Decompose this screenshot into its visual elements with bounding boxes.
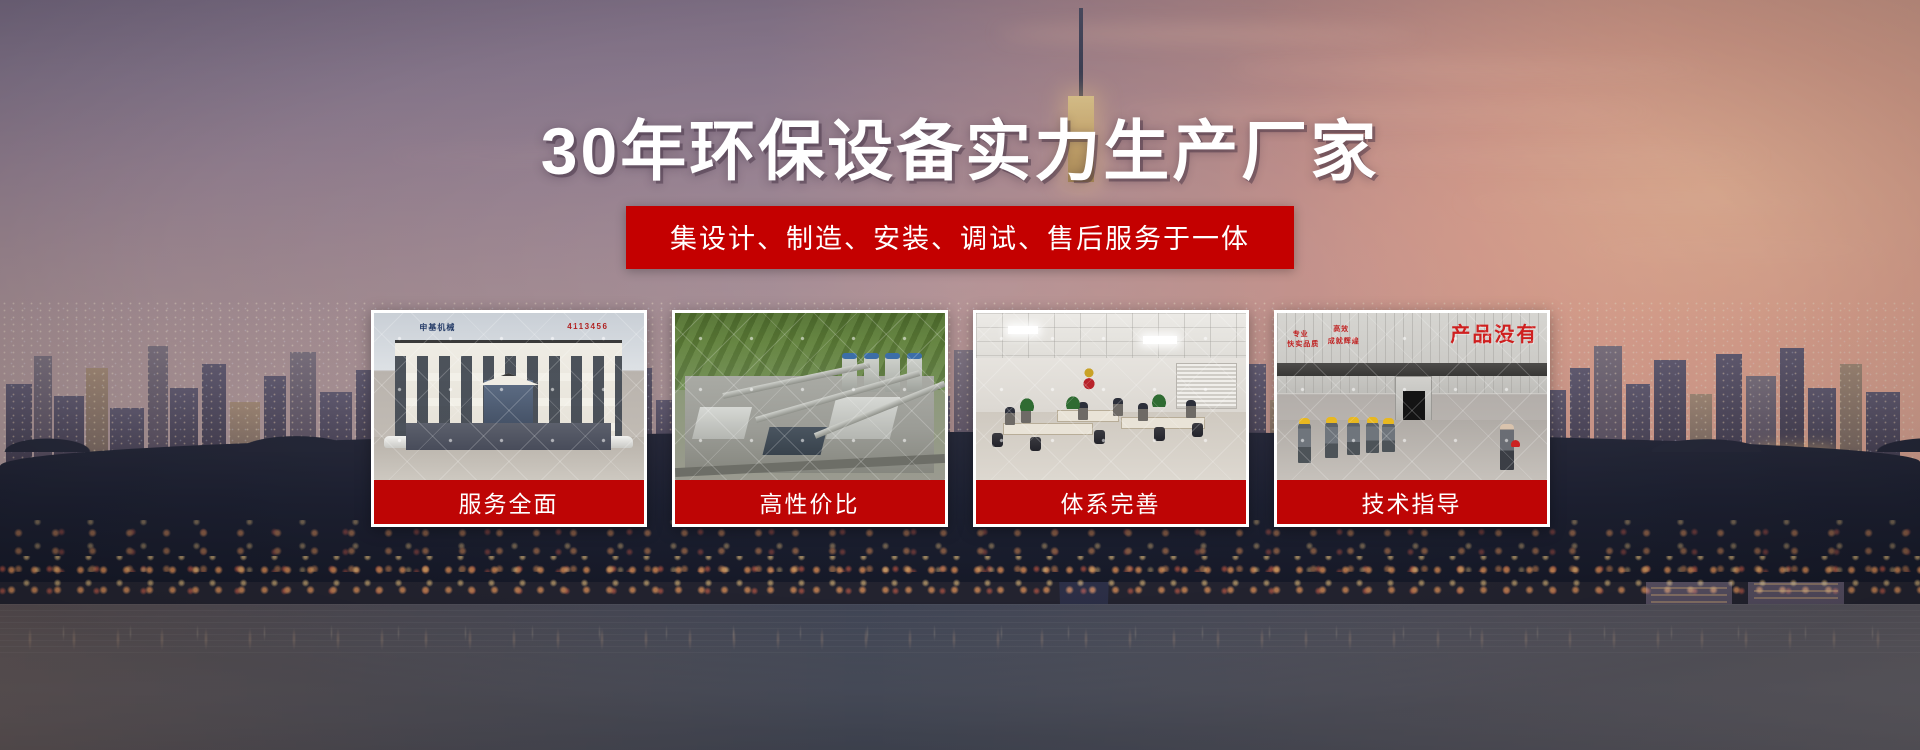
card-caption-guidance: 技术指导	[1277, 480, 1547, 524]
factory-wall-big-sign: 产品没有	[1450, 318, 1538, 347]
banner-content: 30年环保设备实力生产厂家 集设计、制造、安装、调试、售后服务于一体 申基机械 …	[0, 0, 1920, 750]
banner-headline: 30年环保设备实力生产厂家	[541, 118, 1379, 184]
feature-card-system[interactable]: 体系完善	[973, 310, 1249, 527]
card-caption-service: 服务全面	[374, 480, 644, 524]
card-photo-office-interior	[976, 313, 1246, 480]
factory-door	[1395, 376, 1432, 421]
hero-banner: 30年环保设备实力生产厂家 集设计、制造、安装、调试、售后服务于一体 申基机械 …	[0, 0, 1920, 750]
card-photo-workers-training: 产品没有 专业 快实品质 高效 成就辉煌	[1277, 313, 1547, 480]
supervisor-figure	[1500, 424, 1514, 470]
factory-slogan-3: 高效	[1333, 326, 1349, 335]
card-caption-value: 高性价比	[675, 480, 945, 524]
feature-card-guidance[interactable]: 产品没有 专业 快实品质 高效 成就辉煌 技	[1274, 310, 1550, 527]
factory-slogan-4: 成就辉煌	[1328, 338, 1360, 347]
card-caption-system: 体系完善	[976, 480, 1246, 524]
feature-card-list: 申基机械 4113456 服务全面	[371, 310, 1550, 527]
factory-slogan-2: 快实品质	[1287, 341, 1319, 350]
feature-card-service[interactable]: 申基机械 4113456 服务全面	[371, 310, 647, 527]
building-company-sign: 申基机械	[419, 322, 455, 333]
window-blinds	[1176, 363, 1237, 408]
factory-slogan-1: 专业	[1293, 331, 1309, 340]
feature-card-value[interactable]: 高性价比	[672, 310, 948, 527]
staff-row	[406, 417, 611, 450]
card-photo-factory-aerial	[675, 313, 945, 480]
card-photo-office-building: 申基机械 4113456	[374, 313, 644, 480]
wall-logo	[1073, 365, 1105, 391]
banner-subtitle-bar: 集设计、制造、安装、调试、售后服务于一体	[626, 206, 1294, 269]
building-phone-number: 4113456	[567, 322, 608, 331]
red-helmet	[1511, 440, 1520, 447]
